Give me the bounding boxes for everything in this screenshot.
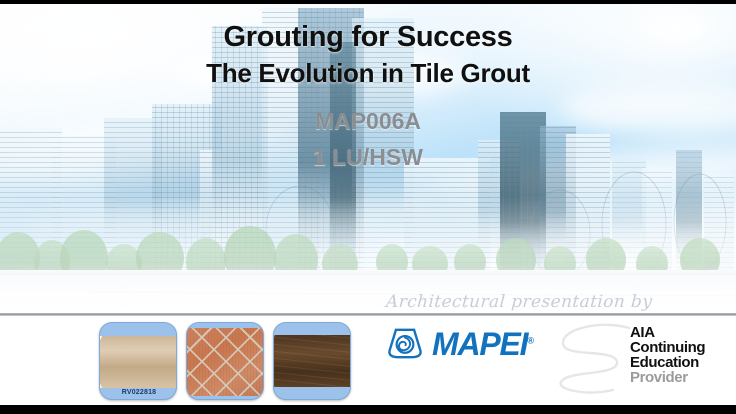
tile-thumbnail-terracotta[interactable] [186,322,264,400]
architectural-presentation-script: Architectural presentation by [385,292,653,312]
aia-line-3: Education [630,355,705,370]
letterbox-top [0,0,736,4]
tile-thumbnail-wood[interactable] [273,322,351,400]
mapei-logo: MAPEI® [385,327,533,360]
tile-thumbnail-strip: RV022818 [99,322,351,400]
mapei-wordmark: MAPEI® [432,328,533,360]
course-info-block: MAP006A 1 LU/HSW [0,108,736,171]
tile-thumbnail-travertine[interactable]: RV022818 [99,322,177,400]
terracotta-texture [187,328,264,396]
aia-line-4: Provider [630,370,705,385]
mapei-globe-icon [385,327,425,360]
presentation-slide: Grouting for Success The Evolution in Ti… [0,0,736,414]
aia-line-1: AIA [630,325,705,340]
decorative-swirl-icon [543,318,639,400]
registered-mark: ® [527,335,532,345]
aia-line-2: Continuing [630,340,705,355]
slide-title-line1: Grouting for Success [0,22,736,53]
course-code: MAP006A [0,108,736,135]
title-block: Grouting for Success The Evolution in Ti… [0,22,736,87]
travertine-texture [100,336,177,388]
aia-provider-block: AIA Continuing Education Provider [630,325,705,385]
mapei-wordmark-text: MAPEI [432,326,527,362]
letterbox-bottom [0,405,736,414]
thumbnail-code-label: RV022818 [100,389,177,396]
slide-title-line2: The Evolution in Tile Grout [0,59,736,88]
credit-value: 1 LU/HSW [0,144,736,171]
wood-plank-texture [274,335,351,387]
